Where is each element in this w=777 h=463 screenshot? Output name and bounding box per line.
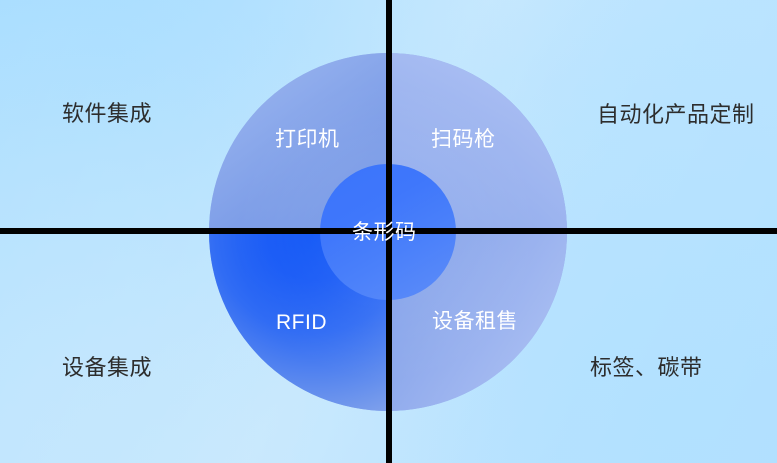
ring-label-device-rental: 设备租售 [432, 311, 518, 332]
quadrant-label-label-ribbon: 标签、碳带 [590, 357, 703, 379]
ring-label-printer: 打印机 [275, 129, 340, 150]
ring-label-rfid: RFID [276, 312, 327, 333]
quadrant-label-software-integration: 软件集成 [62, 103, 152, 125]
quadrant-label-device-integration: 设备集成 [62, 357, 152, 379]
center-label-barcode: 条形码 [352, 222, 417, 243]
ring-label-scanner: 扫码枪 [431, 129, 496, 150]
diagram-canvas: 软件集成 自动化产品定制 设备集成 标签、碳带 打印机 扫码枪 RFID 设备租… [0, 0, 777, 463]
quadrant-label-automation-custom: 自动化产品定制 [597, 104, 755, 126]
